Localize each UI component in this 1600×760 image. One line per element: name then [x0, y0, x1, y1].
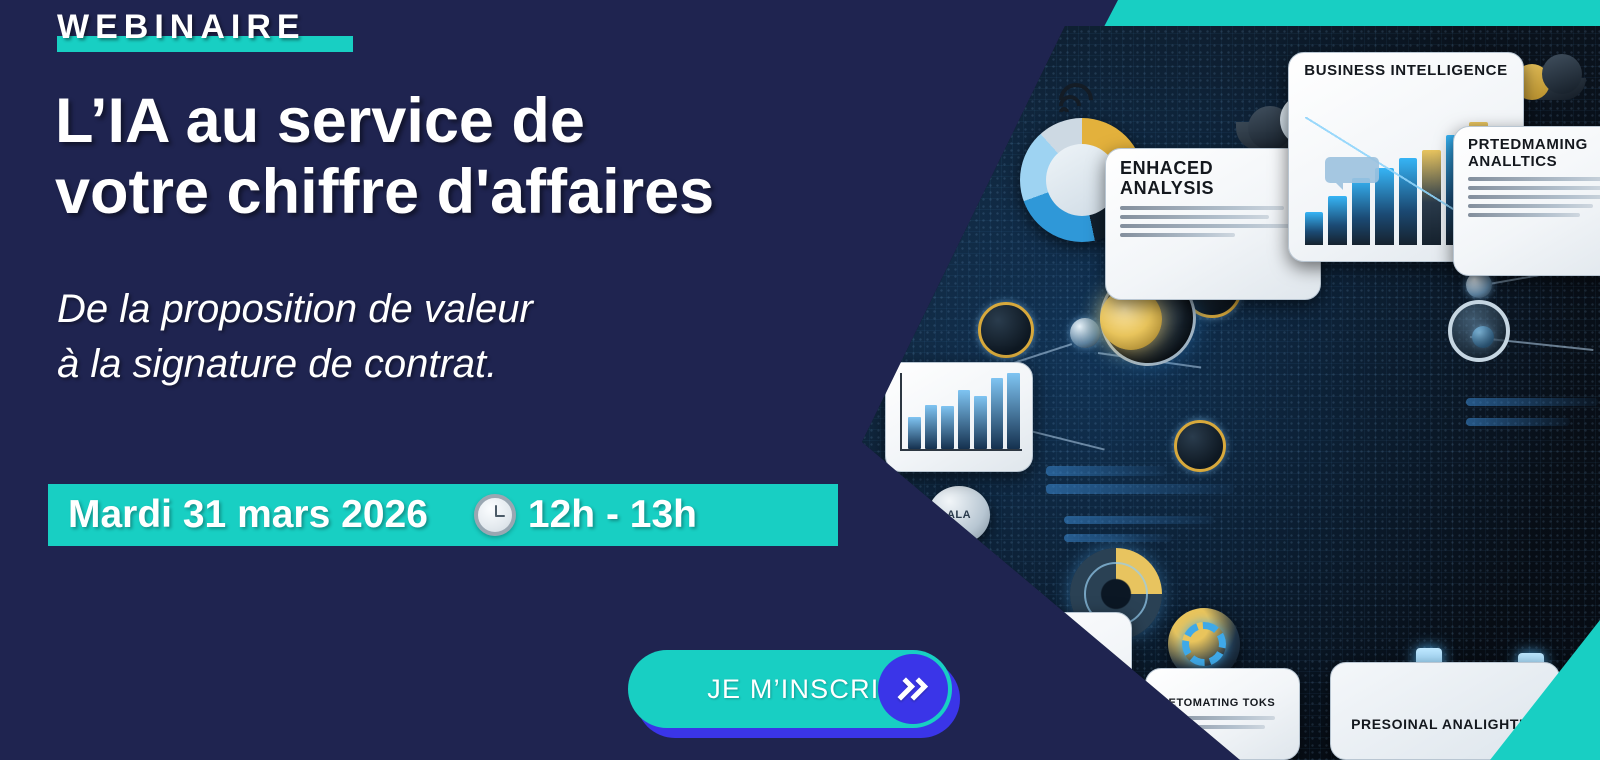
card-bar-chart	[885, 362, 1033, 472]
wifi-icon	[1056, 80, 1100, 120]
schedule-badge: Mardi 31 mars 2026 12h - 13h	[48, 484, 838, 546]
card-title: RETOMATING TOKS	[1160, 697, 1285, 709]
network-node	[1070, 318, 1100, 348]
card-placeholder-text	[1468, 177, 1600, 217]
register-button-face[interactable]: JE M’INSCRIS	[628, 650, 952, 728]
network-node	[1174, 420, 1226, 472]
register-button[interactable]: JE M’INSCRIS	[628, 650, 952, 728]
headline-line-1: L’IA au service de	[55, 86, 845, 157]
card-title: BUSINESS INTELLIGENCE	[1303, 63, 1509, 80]
card-placeholder-text	[1160, 716, 1285, 729]
magnifier-icon	[1448, 300, 1510, 362]
card-placeholder-text	[977, 733, 1097, 751]
mini-bar-chart	[900, 373, 1022, 451]
kicker-label: WEBINAIRE	[57, 8, 306, 47]
subtitle-line-1: De la proposition de valeur	[57, 282, 757, 337]
card-hinimated: HINIMATED	[962, 612, 1132, 760]
hud-strip	[1046, 466, 1166, 476]
event-time-group: 12h - 13h	[474, 493, 697, 537]
card-predictive-analytics: PRTEDMAMINGANALLTICS	[1453, 126, 1600, 276]
people-figures	[981, 663, 1058, 725]
page-title: L’IA au service de votre chiffre d'affai…	[55, 86, 845, 227]
webinar-banner: ALA ENHACEDANALYSIS BUSINESS	[0, 0, 1600, 760]
headline-line-2: votre chiffre d'affaires	[55, 157, 845, 228]
bi-tooltip-bubble	[1325, 157, 1379, 183]
card-title: ENHACEDANALYSIS	[1120, 159, 1306, 199]
ai-humanoid-figure	[0, 0, 300, 470]
event-date: Mardi 31 mars 2026	[68, 493, 428, 537]
event-time: 12h - 13h	[528, 493, 697, 537]
clock-icon	[474, 494, 516, 536]
ai-forehead-node	[141, 54, 158, 71]
hud-strip	[1466, 418, 1570, 426]
subtitle: De la proposition de valeur à la signatu…	[57, 282, 757, 392]
card-automating-tasks: RETOMATING TOKS	[1145, 668, 1300, 760]
hud-strip	[1046, 484, 1234, 494]
subtitle-line-2: à la signature de contrat.	[57, 337, 757, 392]
hud-strip	[1466, 398, 1598, 406]
ala-badge-label: ALA	[947, 509, 971, 521]
card-placeholder-text	[1120, 206, 1306, 237]
ala-badge: ALA	[928, 486, 990, 544]
network-node	[978, 302, 1034, 358]
double-chevron-right-icon[interactable]	[878, 654, 948, 724]
card-title: PRTEDMAMINGANALLTICS	[1468, 137, 1600, 170]
card-title: HINIMATED	[977, 623, 1117, 642]
hud-strip	[1064, 534, 1172, 542]
hud-strip	[1064, 516, 1214, 524]
